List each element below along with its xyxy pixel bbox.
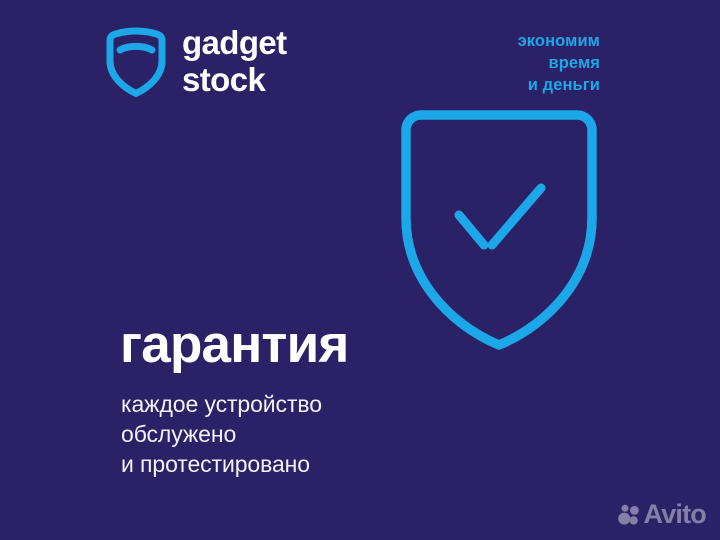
brand-name-line-1: gadget [182,26,287,59]
subtitle-line-2: обслужено [121,420,322,450]
avito-watermark: Avito [617,501,707,528]
tagline-line-2: время [518,52,600,74]
tagline-line-1: экономим [518,30,600,52]
promo-banner: gadget stock экономим время и деньги гар… [0,0,720,540]
subtitle: каждое устройство обслужено и протестиро… [121,390,322,480]
brand-wordmark: gadget stock [182,26,287,96]
page-title: гарантия [120,318,348,371]
brand-logo: gadget stock [104,24,287,98]
tagline: экономим время и деньги [518,30,600,96]
subtitle-line-1: каждое устройство [121,390,322,420]
avito-wordmark: Avito [644,501,707,528]
brand-name-line-2: stock [182,63,287,96]
tagline-line-3: и деньги [518,74,600,96]
shield-g-logo-icon [104,24,168,98]
subtitle-line-3: и протестировано [121,450,322,480]
shield-check-icon [396,106,602,354]
avito-dots-icon [617,504,639,526]
